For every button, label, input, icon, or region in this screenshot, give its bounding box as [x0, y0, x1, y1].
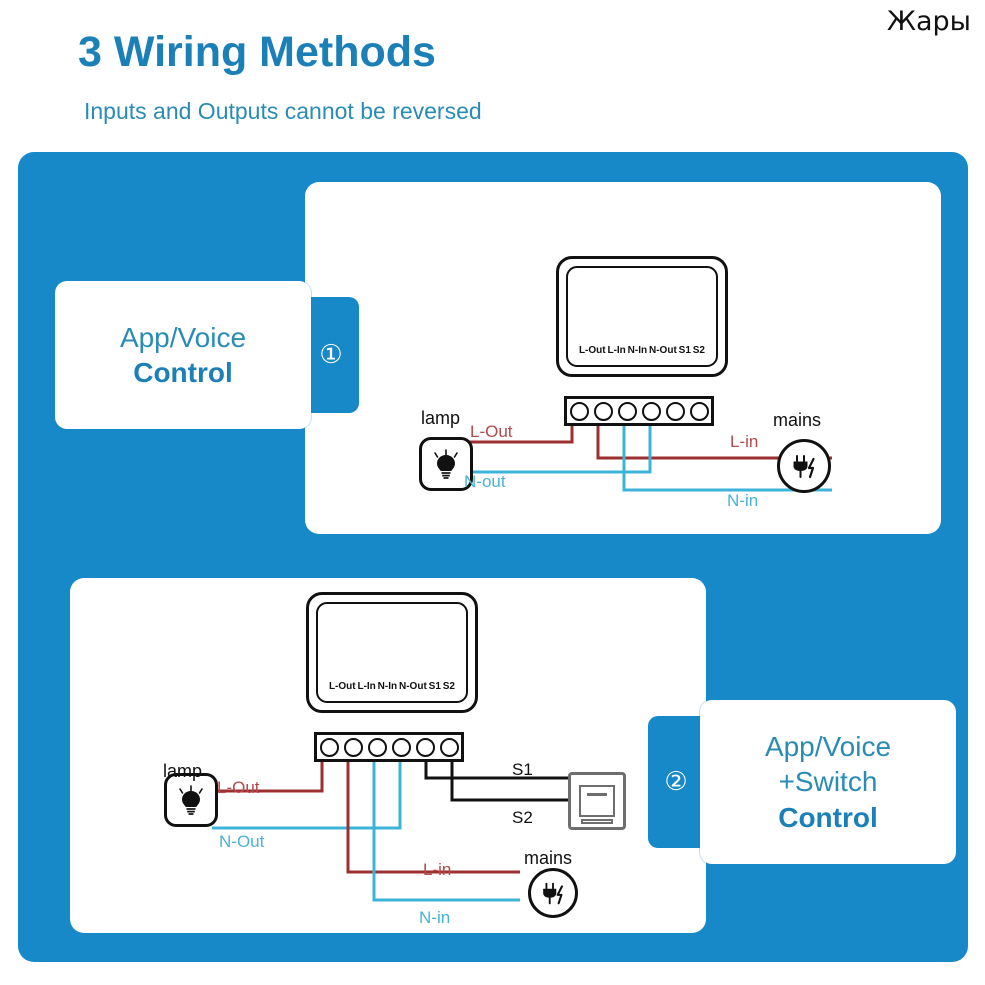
wall-switch-base	[581, 819, 612, 824]
terminal-hole-l-in	[344, 738, 363, 757]
mains-icon	[528, 868, 578, 918]
wire-label-mains-live: L-in	[423, 860, 451, 880]
terminal-hole-s2	[440, 738, 459, 757]
terminal-hole-l-in	[594, 402, 613, 421]
wall-switch-rocker	[587, 793, 607, 796]
mains-label: mains	[773, 410, 821, 431]
lamp-label: lamp	[163, 761, 202, 782]
wire-label-switch-s2: S2	[512, 808, 533, 828]
terminal-label-l-out: L-Out	[579, 345, 606, 356]
page-subtitle: Inputs and Outputs cannot be reversed	[84, 98, 482, 125]
terminal-hole-s2	[690, 402, 709, 421]
method-2-badge-tab: ②	[648, 716, 704, 848]
wire-label-mains-live: L-in	[730, 432, 758, 452]
wire-label-switch-s1: S1	[512, 760, 533, 780]
wire-label-lamp-live: L-Out	[470, 422, 513, 442]
terminal-hole-l-out	[320, 738, 339, 757]
method-2-label-line-1: App/Voice	[765, 729, 891, 764]
terminal-label-s1: S1	[679, 345, 691, 356]
terminal-label-l-in: L-In	[357, 681, 375, 692]
lamp-label: lamp	[421, 408, 460, 429]
terminal-hole-n-out	[392, 738, 411, 757]
terminal-hole-n-in	[368, 738, 387, 757]
method-1-label-line-1: App/Voice	[120, 320, 246, 355]
terminal-strip	[564, 396, 714, 426]
wire-label-lamp-neutral: N-out	[464, 472, 506, 492]
mains-label: mains	[524, 848, 572, 869]
smart-switch-module: L-Out L-In N-In N-Out S1 S2	[306, 592, 478, 713]
wire-label-lamp-neutral: N-Out	[219, 832, 264, 852]
terminal-label-n-out: N-Out	[399, 681, 427, 692]
method-1-label-line-2: Control	[133, 355, 233, 390]
terminal-label-l-out: L-Out	[329, 681, 356, 692]
wall-switch-rocker-plate	[579, 785, 614, 818]
terminal-label-row: L-Out L-In N-In N-Out S1 S2	[568, 345, 716, 356]
terminal-label-s2: S2	[443, 681, 455, 692]
page-title: 3 Wiring Methods	[78, 28, 436, 77]
terminal-label-l-in: L-In	[607, 345, 625, 356]
terminal-label-n-in: N-In	[378, 681, 397, 692]
wire-label-mains-neutral: N-in	[727, 491, 758, 511]
terminal-hole-n-out	[642, 402, 661, 421]
method-2-label-line-2: +Switch	[779, 764, 878, 799]
watermark-text: Жары	[887, 6, 971, 37]
smart-switch-module: L-Out L-In N-In N-Out S1 S2	[556, 256, 728, 377]
terminal-label-n-out: N-Out	[649, 345, 677, 356]
method-1-badge-number: ①	[319, 340, 342, 370]
method-1-label-card: App/Voice Control	[55, 281, 311, 429]
wire-label-mains-neutral: N-in	[419, 908, 450, 928]
terminal-hole-l-out	[570, 402, 589, 421]
terminal-label-n-in: N-In	[628, 345, 647, 356]
terminal-label-s1: S1	[429, 681, 441, 692]
terminal-strip	[314, 732, 464, 762]
method-2-label-line-3: Control	[778, 800, 878, 835]
terminal-hole-s1	[666, 402, 685, 421]
terminal-hole-s1	[416, 738, 435, 757]
method-1-badge-tab: ①	[303, 297, 359, 413]
terminal-label-s2: S2	[693, 345, 705, 356]
method-2-label-card: App/Voice +Switch Control	[700, 700, 956, 864]
wire-label-lamp-live: L-Out	[217, 778, 260, 798]
mains-icon	[777, 439, 831, 493]
terminal-hole-n-in	[618, 402, 637, 421]
method-2-badge-number: ②	[664, 767, 687, 797]
wall-switch-icon	[568, 772, 626, 830]
terminal-label-row: L-Out L-In N-In N-Out S1 S2	[318, 681, 466, 692]
